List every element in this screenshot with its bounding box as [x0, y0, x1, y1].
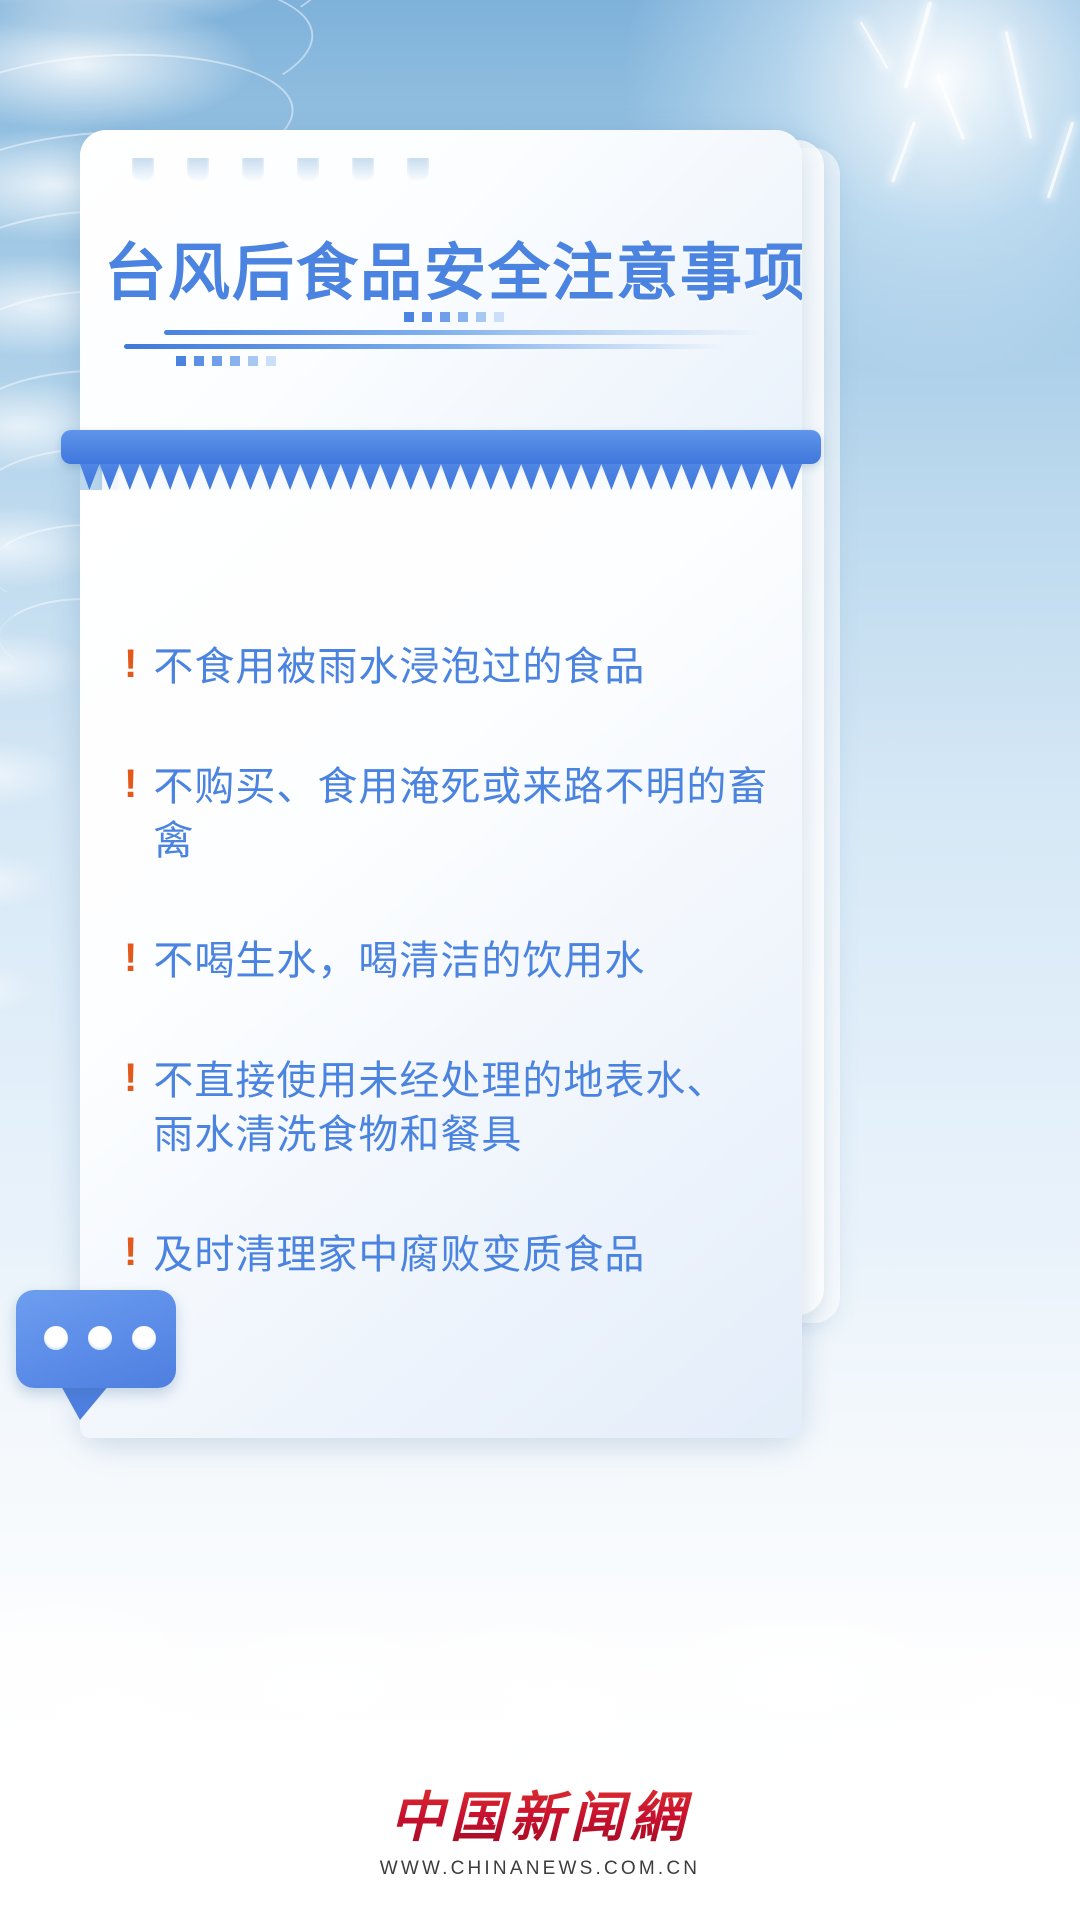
zigzag-tear-edge [80, 464, 802, 490]
poster-card: 台风后食品安全注意事项 [80, 130, 802, 1438]
punch-hole-icon [407, 158, 429, 184]
list-item: ! 及时清理家中腐败变质食品 [124, 1228, 802, 1282]
dot-icon [44, 1326, 68, 1350]
dot-icon [132, 1326, 156, 1350]
deco-square [494, 312, 504, 322]
exclamation-icon: ! [124, 934, 137, 981]
chinanews-url: WWW.CHINANEWS.COM.CN [0, 1858, 1080, 1880]
deco-square [212, 356, 222, 366]
punch-hole-icon [352, 158, 374, 184]
card-header: 台风后食品安全注意事项 [80, 130, 802, 430]
deco-square [458, 312, 468, 322]
deco-square [230, 356, 240, 366]
tip-text: 不购买、食用淹死或来路不明的畜禽 [153, 760, 802, 868]
card-body: ! 不食用被雨水浸泡过的食品 ! 不购买、食用淹死或来路不明的畜禽 ! 不喝生水… [80, 490, 802, 1438]
speech-bubble-dots [44, 1326, 156, 1350]
list-item: ! 不购买、食用淹死或来路不明的畜禽 [124, 760, 802, 868]
list-item: ! 不食用被雨水浸泡过的食品 [124, 640, 802, 694]
deco-square [404, 312, 414, 322]
title-decoration [116, 312, 776, 370]
tip-text: 及时清理家中腐败变质食品 [153, 1228, 645, 1282]
punch-hole-icon [132, 158, 154, 184]
deco-squares-bottom [176, 356, 276, 366]
speech-bubble-icon [8, 1290, 188, 1420]
speech-bubble-body [16, 1290, 176, 1388]
list-item: ! 不直接使用未经处理的地表水、 雨水清洗食物和餐具 [124, 1054, 802, 1162]
chinanews-logo: 中国新闻網 [0, 1773, 1080, 1852]
list-item: ! 不喝生水，喝清洁的饮用水 [124, 934, 802, 988]
tip-text: 不食用被雨水浸泡过的食品 [153, 640, 645, 694]
notebook-punch-holes [132, 158, 429, 184]
deco-square [248, 356, 258, 366]
tip-text: 不喝生水，喝清洁的饮用水 [153, 934, 645, 988]
deco-square [476, 312, 486, 322]
poster-card-stack: 台风后食品安全注意事项 [80, 130, 840, 1438]
deco-squares-top [404, 312, 504, 322]
deco-line-top [164, 330, 764, 335]
exclamation-icon: ! [124, 640, 137, 687]
deco-square [266, 356, 276, 366]
exclamation-icon: ! [124, 760, 137, 807]
punch-hole-icon [187, 158, 209, 184]
header-divider-bar [61, 430, 821, 464]
deco-square [422, 312, 432, 322]
page-title: 台风后食品安全注意事项 [104, 222, 794, 312]
exclamation-icon: ! [124, 1054, 137, 1101]
punch-hole-icon [297, 158, 319, 184]
speech-bubble-tail [60, 1384, 110, 1420]
deco-square [440, 312, 450, 322]
deco-square [194, 356, 204, 366]
footer: 中国新闻網 WWW.CHINANEWS.COM.CN [0, 1773, 1080, 1880]
deco-square [176, 356, 186, 366]
tip-text: 不直接使用未经处理的地表水、 雨水清洗食物和餐具 [153, 1054, 727, 1162]
punch-hole-icon [242, 158, 264, 184]
tips-list: ! 不食用被雨水浸泡过的食品 ! 不购买、食用淹死或来路不明的畜禽 ! 不喝生水… [80, 640, 802, 1282]
dot-icon [88, 1326, 112, 1350]
deco-line-bottom [124, 344, 724, 349]
exclamation-icon: ! [124, 1228, 137, 1275]
